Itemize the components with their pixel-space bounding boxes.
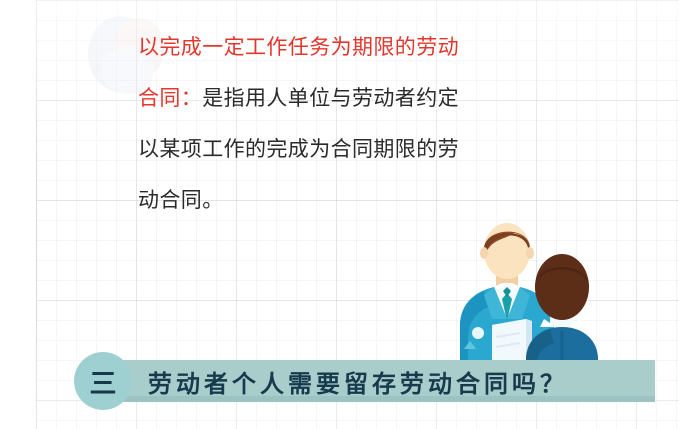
section-number: 三: [74, 352, 132, 410]
copy-line-4: 动合同。: [138, 175, 558, 226]
poster-canvas: 以完成一定工作任务为期限的劳动 合同：是指用人单位与劳动者约定 以某项工作的完成…: [0, 0, 679, 429]
copy-line-3: 以某项工作的完成为合同期限的劳: [138, 124, 558, 175]
copy-line-1-red: 以完成一定工作任务为期限的劳动: [138, 36, 459, 59]
section-number-badge: 三: [74, 352, 132, 410]
copy-line-2-black: 是指用人单位与劳动者约定: [202, 87, 459, 110]
section-banner: 三 劳动者个人需要留存劳动合同吗？: [0, 352, 679, 412]
copy-line-2: 合同：是指用人单位与劳动者约定: [138, 73, 558, 124]
copy-line-2-red: 合同：: [138, 87, 202, 110]
copy-line-3-black: 以某项工作的完成为合同期限的劳: [138, 138, 459, 161]
section-heading: 劳动者个人需要留存劳动合同吗？: [148, 360, 568, 402]
copy-line-1: 以完成一定工作任务为期限的劳动: [138, 22, 558, 73]
copy-line-4-black: 动合同。: [138, 189, 224, 212]
body-copy-block: 以完成一定工作任务为期限的劳动 合同：是指用人单位与劳动者约定 以某项工作的完成…: [138, 22, 558, 226]
